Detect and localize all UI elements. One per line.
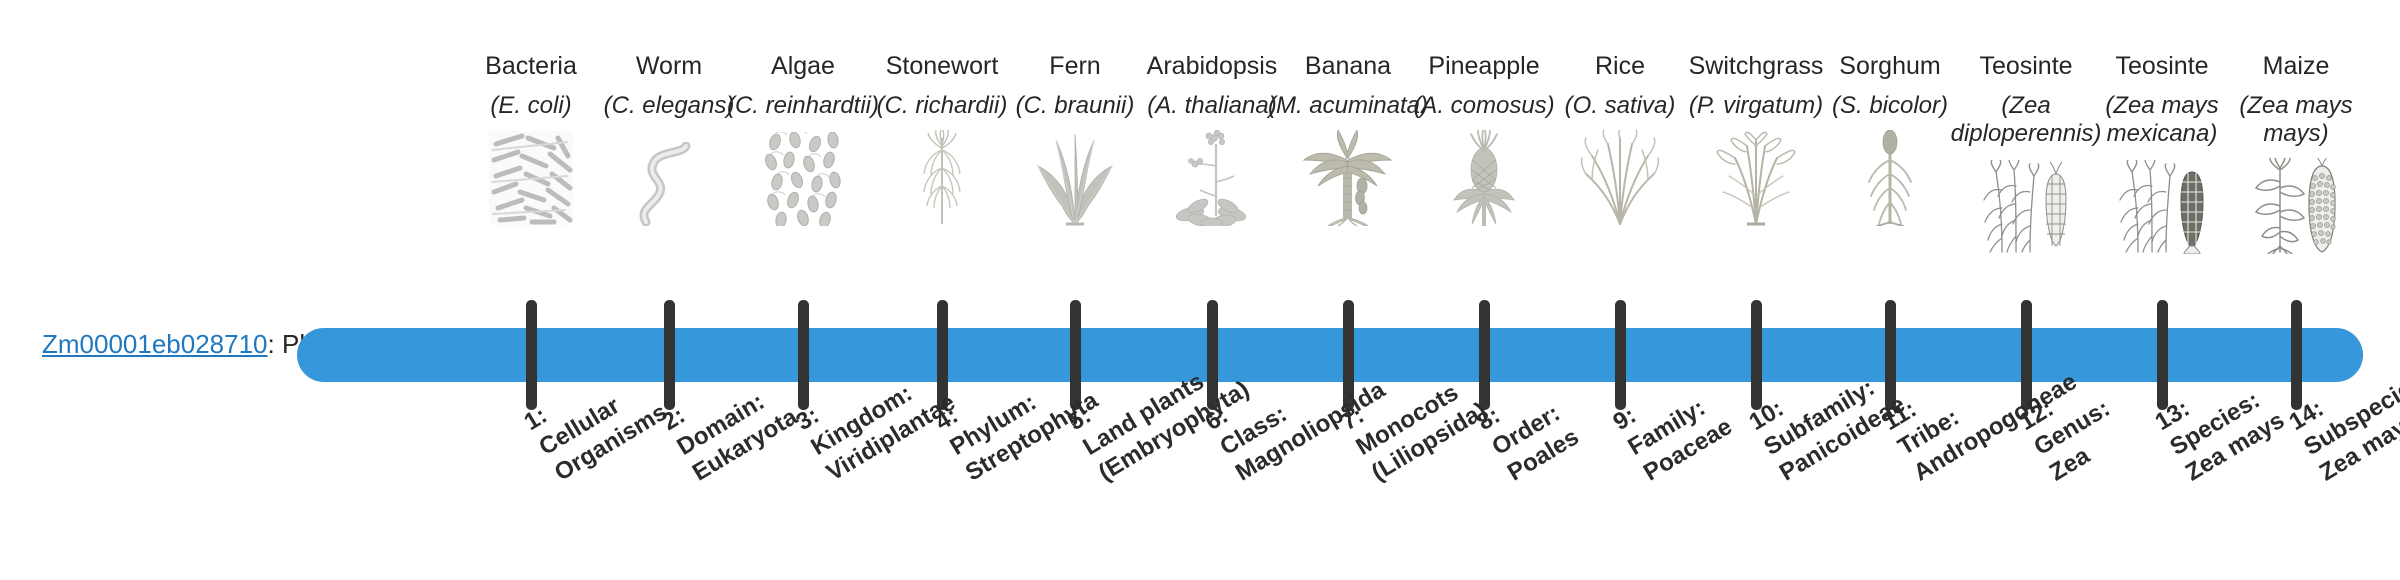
species-common-name: Maize xyxy=(2208,52,2384,82)
species-scientific-name: (Zea mays mays) xyxy=(2208,92,2384,149)
maize-icon xyxy=(2208,156,2384,254)
phylostratum-figure: Zm00001eb028710: Phylostratum 3 Bacteria… xyxy=(0,0,2400,580)
species-column-maize: Maize(Zea mays mays) xyxy=(2208,52,2384,254)
stratum-tick-1[interactable] xyxy=(526,300,537,410)
